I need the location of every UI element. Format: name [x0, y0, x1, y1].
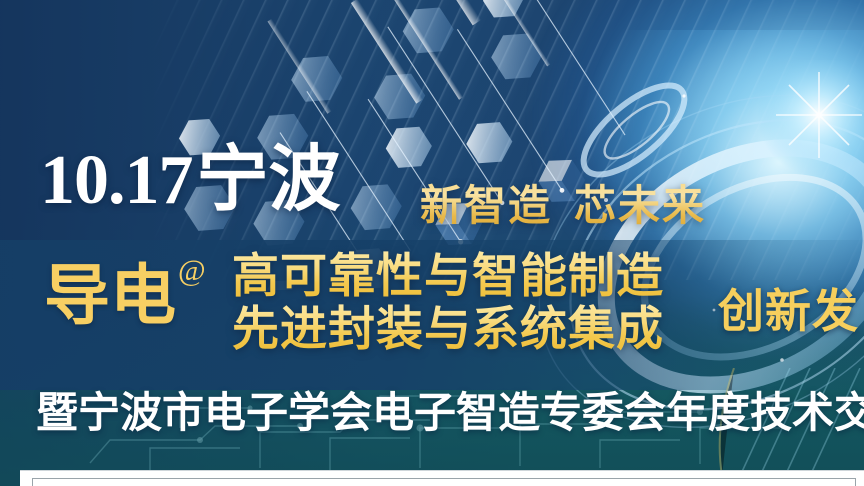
- event-date-city: 10.17 宁波: [40, 146, 341, 214]
- event-slogan: 新智造芯未来: [420, 172, 706, 233]
- bottom-white-card-border: [32, 478, 856, 486]
- main-title-line-1: 高可靠性与智能制造: [232, 250, 664, 303]
- bottom-white-card: [20, 470, 864, 486]
- event-city: 宁波: [197, 146, 341, 214]
- main-title-line-2: 先进封装与系统集成: [232, 303, 664, 356]
- at-symbol-icon: @: [178, 256, 206, 286]
- slogan-part-a: 新智造: [420, 184, 552, 230]
- side-slogan: 创新发: [718, 288, 859, 334]
- brand-lockup: 导电 @: [44, 262, 206, 328]
- brand-name: 导电: [44, 262, 176, 328]
- event-date: 10.17: [40, 148, 193, 215]
- poster-canvas: 10.17 宁波 新智造芯未来 导电 @ 高可靠性与智能制造 先进封装与系统集成…: [0, 0, 864, 486]
- main-title-block: 高可靠性与智能制造 先进封装与系统集成: [232, 250, 664, 355]
- event-subtitle: 暨宁波市电子学会电子智造专委会年度技术交: [36, 392, 864, 434]
- slogan-part-b: 芯未来: [574, 184, 706, 230]
